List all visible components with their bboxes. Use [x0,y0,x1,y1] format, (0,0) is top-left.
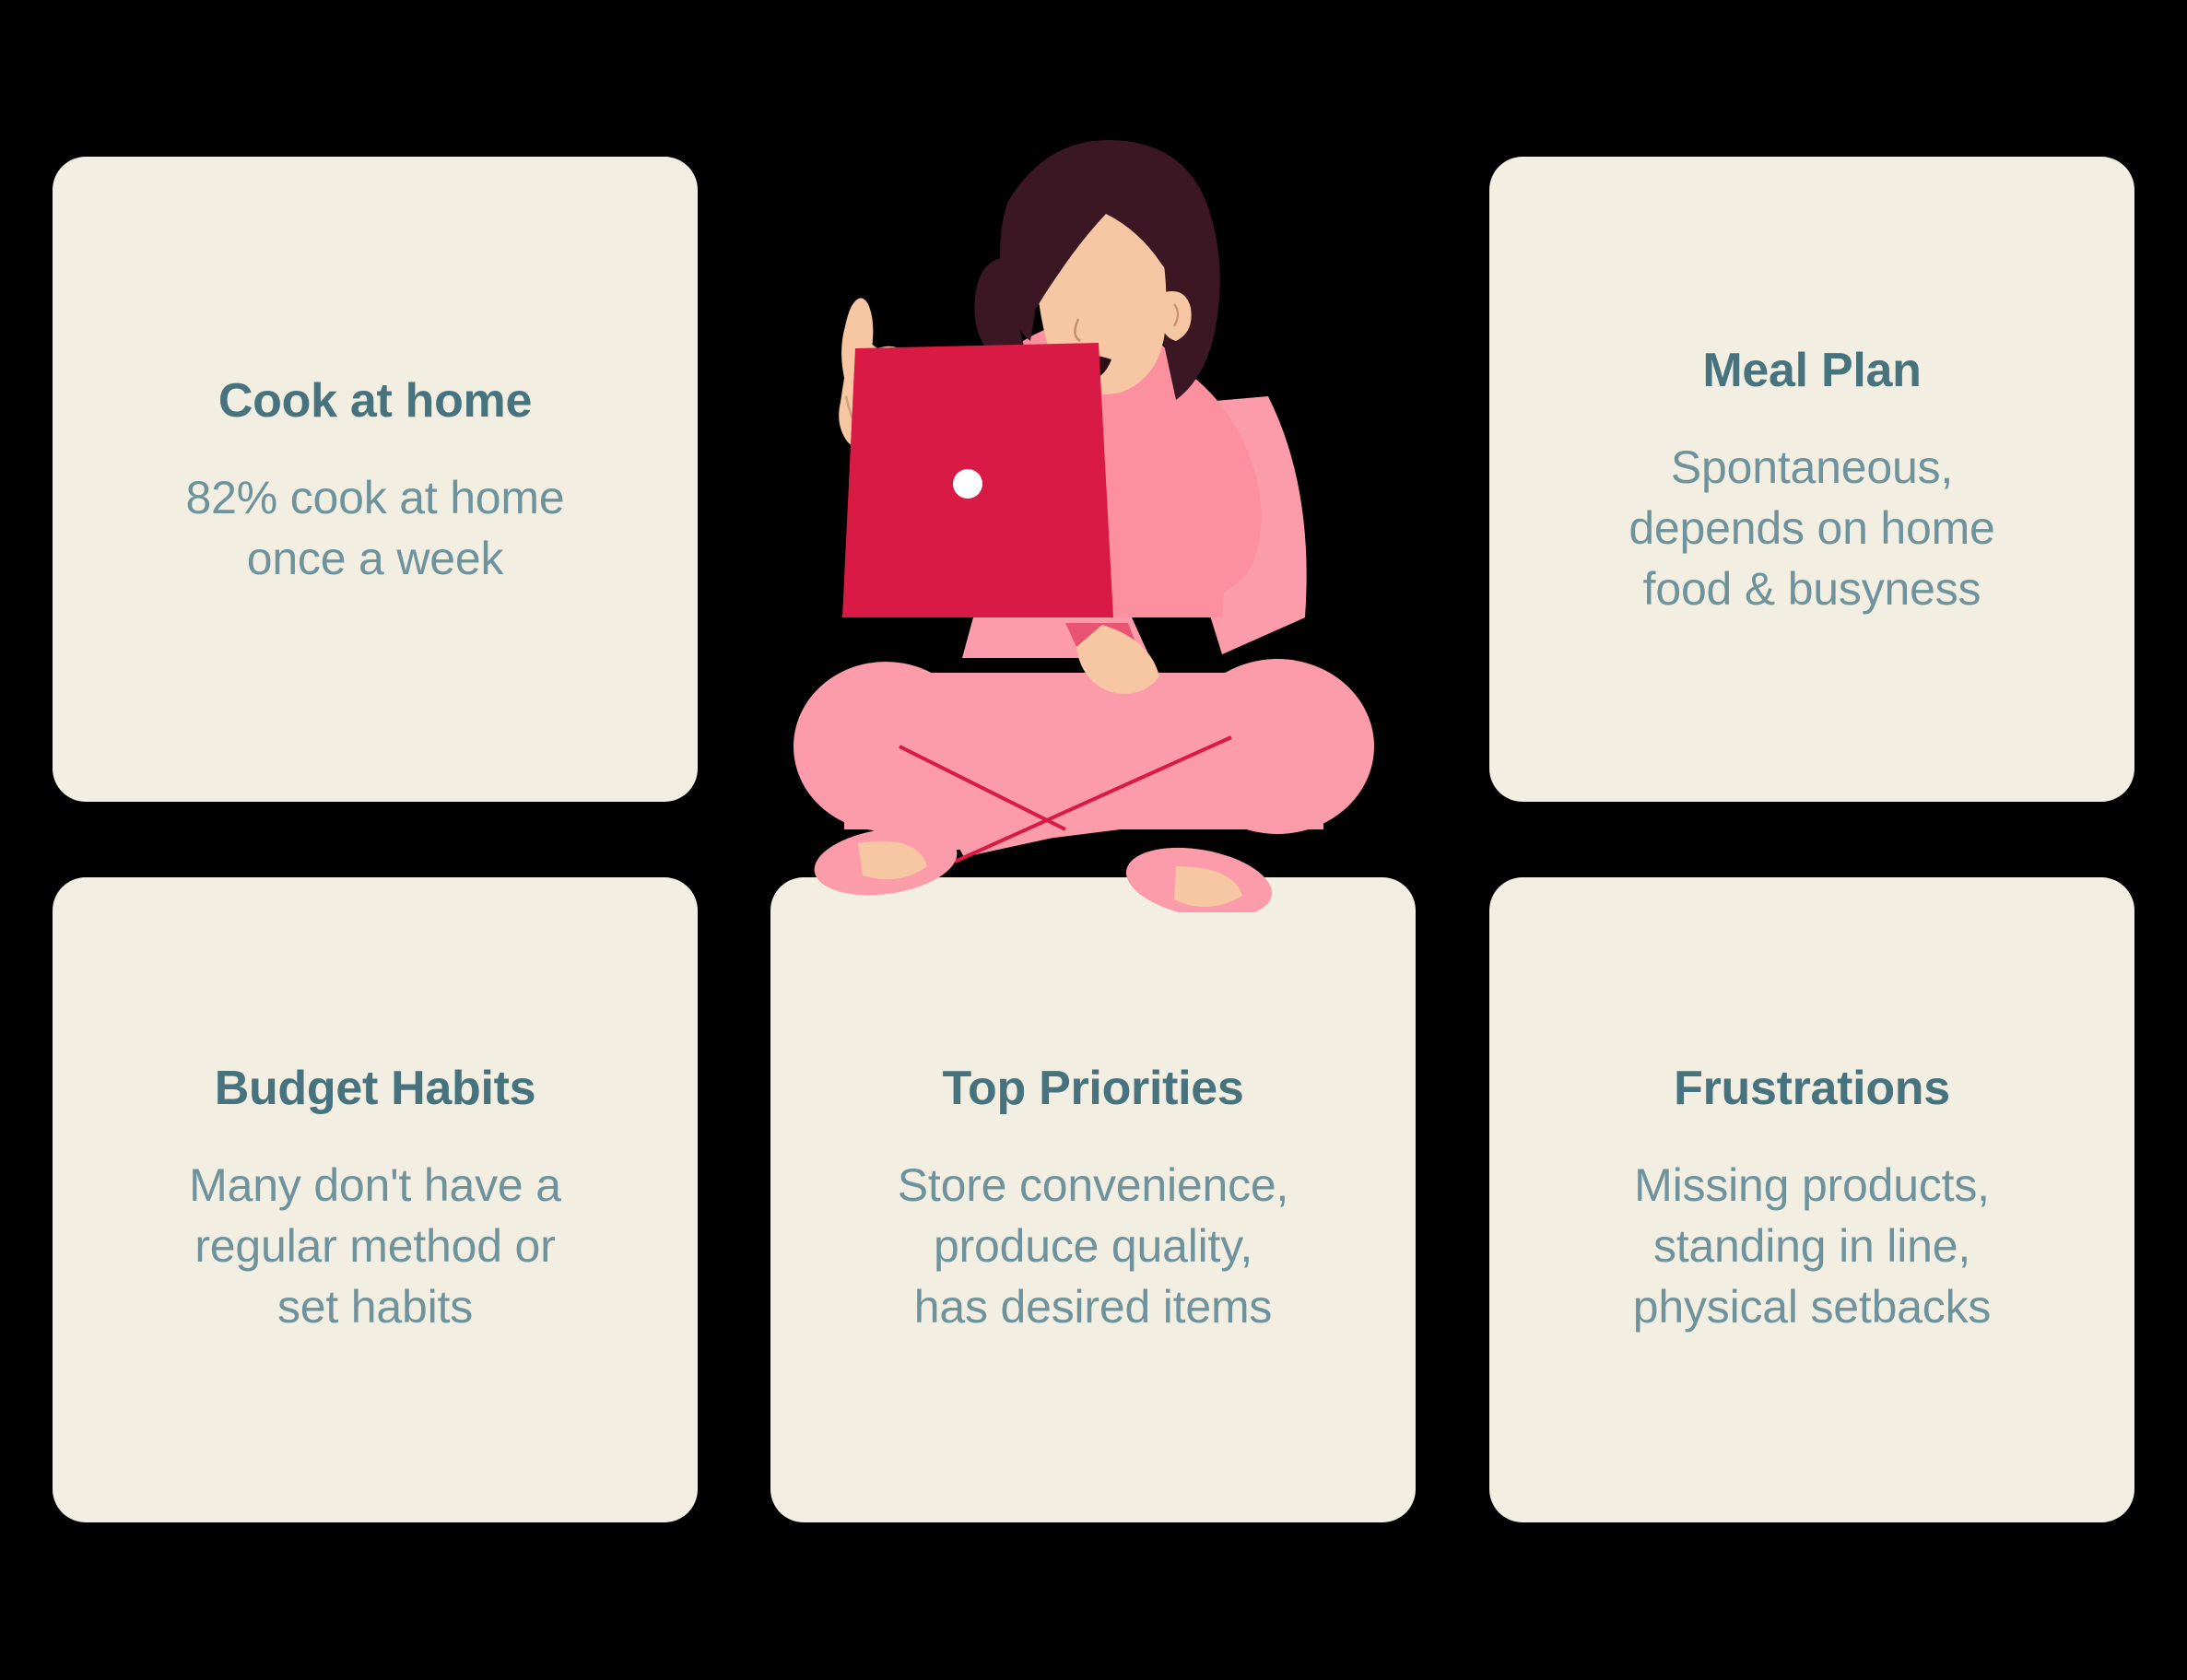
card-title-budget-habits: Budget Habits [215,1063,536,1115]
card-title-cook-at-home: Cook at home [218,375,532,428]
card-body-meal-plan: Spontaneous, depends on home food & busy… [1628,437,1994,619]
card-budget-habits[interactable]: Budget Habits Many don't have a regular … [53,877,698,1522]
woman-sitting-with-laptop-illustration [789,101,1397,912]
card-title-top-priorities: Top Priorities [942,1063,1243,1115]
card-body-cook-at-home: 82% cook at home once a week [186,467,565,589]
card-frustrations[interactable]: Frustrations Missing products, standing … [1489,877,2134,1522]
card-title-frustrations: Frustrations [1674,1063,1950,1115]
card-body-frustrations: Missing products, standing in line, phys… [1633,1155,1991,1337]
card-title-meal-plan: Meal Plan [1702,345,1921,397]
card-cook-at-home[interactable]: Cook at home 82% cook at home once a wee… [53,157,698,802]
card-body-top-priorities: Store convenience, produce quality, has … [898,1155,1288,1337]
card-top-priorities[interactable]: Top Priorities Store convenience, produc… [770,877,1416,1522]
card-meal-plan[interactable]: Meal Plan Spontaneous, depends on home f… [1489,157,2134,802]
card-body-budget-habits: Many don't have a regular method or set … [189,1155,561,1337]
infographic-canvas: Cook at home 82% cook at home once a wee… [0,0,2187,1680]
